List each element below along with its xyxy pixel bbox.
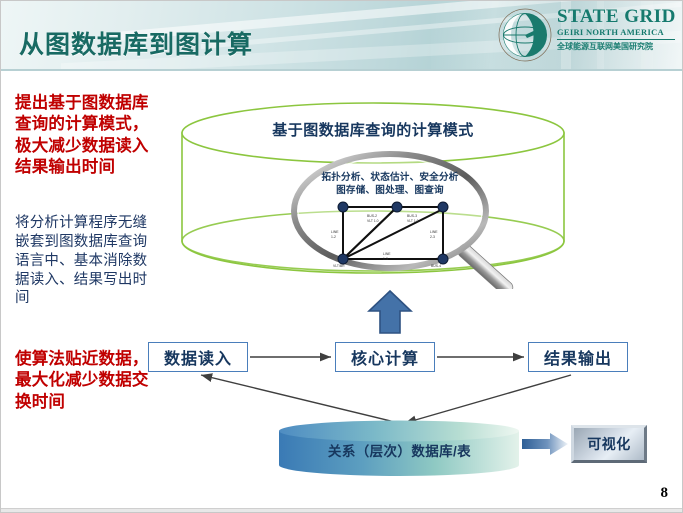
svg-text:LINE: LINE — [331, 230, 339, 234]
database-cylinder-label: 关系（层次）数据库/表 — [278, 440, 521, 460]
svg-text:LINE: LINE — [430, 230, 438, 234]
svg-text:VLT/BR: VLT/BR — [333, 264, 345, 268]
svg-text:BUS-4: BUS-4 — [431, 264, 441, 268]
magnifier-caption: 拓扑分析、状态估计、安全分析 图存储、图处理、图查询 — [301, 171, 479, 197]
header-underline — [1, 69, 683, 71]
footer-divider — [1, 508, 683, 512]
sidebar-highlight-top: 提出基于图数据库查询的计算模式，极大减少数据读入结果输出时间 — [15, 93, 155, 179]
logo-line-state-grid: STATE GRID — [557, 7, 681, 27]
cylinder-title-label: 基于图数据库查询的计算模式 — [179, 119, 567, 140]
svg-text:1-3: 1-3 — [383, 257, 388, 261]
logo-line-chinese: 全球能源互联网美国研究院 — [557, 41, 681, 52]
magnifier-caption-line2: 图存储、图处理、图查询 — [301, 184, 479, 197]
svg-text:VLT 1.0: VLT 1.0 — [367, 219, 379, 223]
sidebar-body-text: 将分析计算程序无缝嵌套到图数据库查询语言中、基本消除数据读入、结果写出时间 — [15, 214, 155, 308]
relational-database-cylinder: 关系（层次）数据库/表 — [278, 420, 521, 477]
power-grid-graph-icon: BUS-2 VLT 1.0 BUS-3 VLT 1.0 LINE 1-2 LIN… — [327, 197, 455, 269]
svg-text:LINE: LINE — [383, 252, 391, 256]
brand-logo: STATE GRID GEIRI NORTH AMERICA 全球能源互联网美国… — [497, 5, 681, 65]
page-title: 从图数据库到图计算 — [19, 25, 253, 61]
state-grid-globe-icon — [497, 7, 553, 63]
logo-line-geiri: GEIRI NORTH AMERICA — [557, 27, 681, 38]
logo-divider — [557, 39, 675, 40]
svg-text:1-2: 1-2 — [331, 235, 336, 239]
svg-text:BUS-2: BUS-2 — [367, 214, 377, 218]
box-result-output[interactable]: 结果输出 — [528, 342, 628, 372]
box-core-compute[interactable]: 核心计算 — [335, 342, 435, 372]
visualization-box[interactable]: 可视化 — [571, 425, 647, 463]
magnifier-caption-line1: 拓扑分析、状态估计、安全分析 — [301, 171, 479, 184]
svg-text:VLT 1.0: VLT 1.0 — [407, 219, 419, 223]
page-number: 8 — [661, 485, 669, 502]
right-arrow-icon — [522, 433, 568, 460]
logo-wordmark: STATE GRID GEIRI NORTH AMERICA 全球能源互联网美国… — [557, 7, 681, 52]
box-data-read[interactable]: 数据读入 — [148, 342, 248, 372]
svg-text:2-3: 2-3 — [430, 235, 435, 239]
magnifier-group: 拓扑分析、状态估计、安全分析 图存储、图处理、图查询 — [289, 149, 529, 289]
slide-canvas: 从图数据库到图计算 STATE GRID GEIRI NORTH AMERICA… — [0, 0, 683, 513]
svg-text:BUS-3: BUS-3 — [407, 214, 417, 218]
